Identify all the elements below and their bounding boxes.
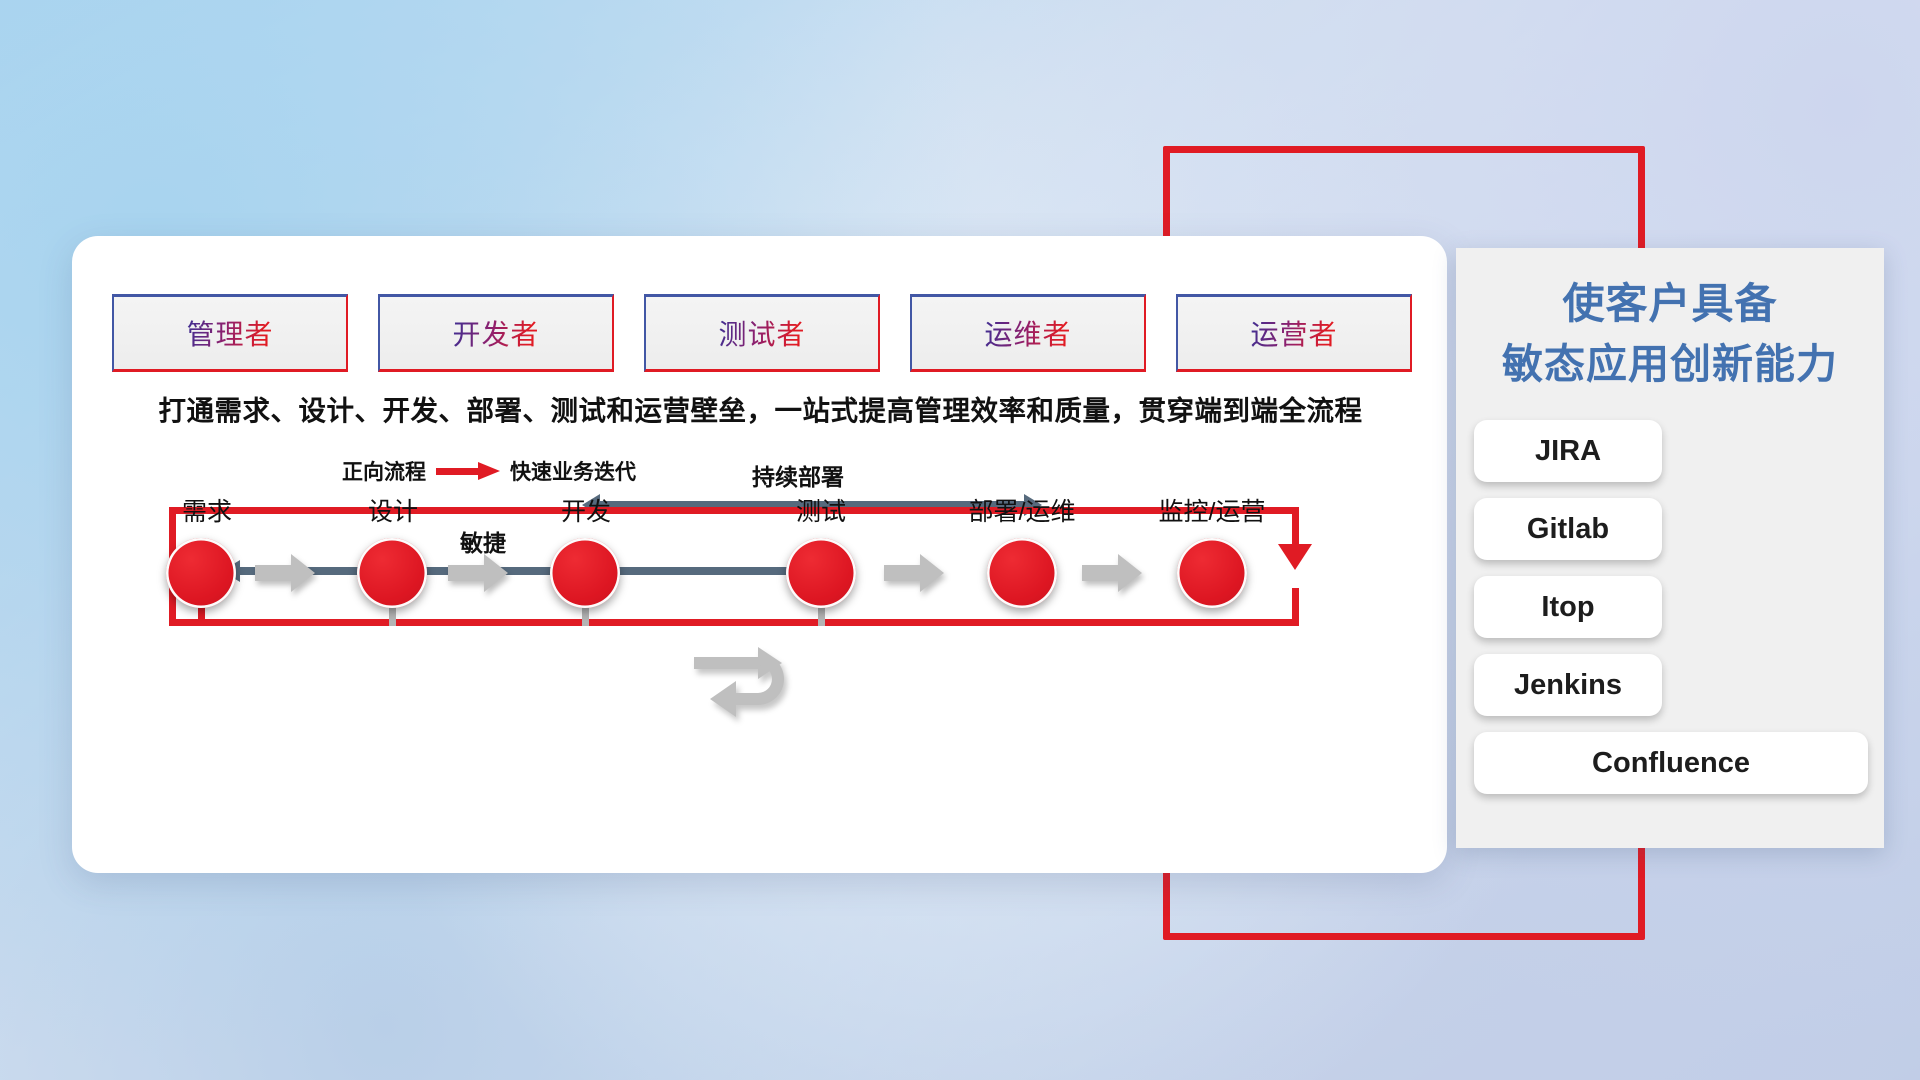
headline-text: 打通需求、设计、开发、部署、测试和运营壁垒，一站式提高管理效率和质量，贯穿端到端… <box>108 388 1413 428</box>
forward-flow-label: 正向流程 <box>342 456 426 486</box>
role-chip-row: 管理者 开发者 测试者 运维者 运营者 <box>112 294 1412 372</box>
stage-testing-label: 测试 <box>762 492 880 528</box>
role-operator[interactable]: 运维者 <box>910 294 1146 372</box>
stage-development[interactable] <box>550 538 620 608</box>
stage-requirements[interactable] <box>166 538 236 608</box>
role-tester[interactable]: 测试者 <box>644 294 880 372</box>
role-developer-label: 开发者 <box>452 313 539 353</box>
stage-requirements-label: 需求 <box>148 492 266 528</box>
role-manager[interactable]: 管理者 <box>112 294 348 372</box>
tool-confluence-label: Confluence <box>1592 747 1750 780</box>
value-proposition-panel: 使客户具备 敏态应用创新能力 JIRA Gitlab Itop Jenkins … <box>1456 248 1884 848</box>
stage-monitor-operations-label: 监控/运营 <box>1122 492 1302 528</box>
stage-deploy-ops[interactable] <box>987 538 1057 608</box>
connector-arrow-icon <box>1082 554 1142 592</box>
tool-jira-label: JIRA <box>1535 435 1601 468</box>
tool-jira[interactable]: JIRA <box>1474 420 1662 482</box>
slide-canvas: 管理者 开发者 测试者 运维者 运营者 打通需求、设计、开发、部署、测试和运营壁… <box>0 0 1920 1080</box>
role-manager-label: 管理者 <box>186 313 273 353</box>
forward-flow-legend: 正向流程 快速业务迭代 <box>342 456 636 486</box>
tool-itop[interactable]: Itop <box>1474 576 1662 638</box>
connector-arrow-icon <box>448 554 508 592</box>
stage-deploy-ops-label: 部署/运维 <box>932 492 1112 528</box>
tool-gitlab[interactable]: Gitlab <box>1474 498 1662 560</box>
arrow-right-red-icon <box>436 465 500 477</box>
stage-testing[interactable] <box>786 538 856 608</box>
tool-jenkins-label: Jenkins <box>1514 669 1622 702</box>
feedback-loop-bottom-line <box>169 619 1299 626</box>
stage-development-label: 开发 <box>527 492 645 528</box>
role-business-operator[interactable]: 运营者 <box>1176 294 1412 372</box>
feedback-loop-right-stem <box>1292 588 1299 626</box>
role-developer[interactable]: 开发者 <box>378 294 614 372</box>
tool-confluence[interactable]: Confluence <box>1474 732 1868 794</box>
side-panel-title-line2: 敏态应用创新能力 <box>1456 335 1884 394</box>
role-tester-label: 测试者 <box>718 313 805 353</box>
connector-arrow-icon <box>884 554 944 592</box>
tool-itop-label: Itop <box>1541 591 1594 624</box>
tool-jenkins[interactable]: Jenkins <box>1474 654 1662 716</box>
connector-arrow-icon <box>255 554 315 592</box>
side-panel-title-line1: 使客户具备 <box>1456 274 1884 335</box>
devops-overview-card: 管理者 开发者 测试者 运维者 运营者 打通需求、设计、开发、部署、测试和运营壁… <box>72 236 1447 873</box>
stage-design-label: 设计 <box>334 492 452 528</box>
fast-iteration-label: 快速业务迭代 <box>510 456 636 486</box>
feedback-loop-down-arrow-icon <box>1278 544 1312 570</box>
stage-monitor-operations[interactable] <box>1177 538 1247 608</box>
role-operator-label: 运维者 <box>984 313 1071 353</box>
agile-label: 敏捷 <box>460 524 506 558</box>
role-business-operator-label: 运营者 <box>1250 313 1337 353</box>
tool-chip-grid: JIRA Gitlab Itop Jenkins Confluence <box>1456 420 1884 794</box>
tool-gitlab-label: Gitlab <box>1527 513 1609 546</box>
rework-loop-icon <box>692 645 812 731</box>
side-panel-title: 使客户具备 敏态应用创新能力 <box>1456 248 1884 394</box>
stage-design[interactable] <box>357 538 427 608</box>
continuous-deployment-label: 持续部署 <box>752 458 844 492</box>
